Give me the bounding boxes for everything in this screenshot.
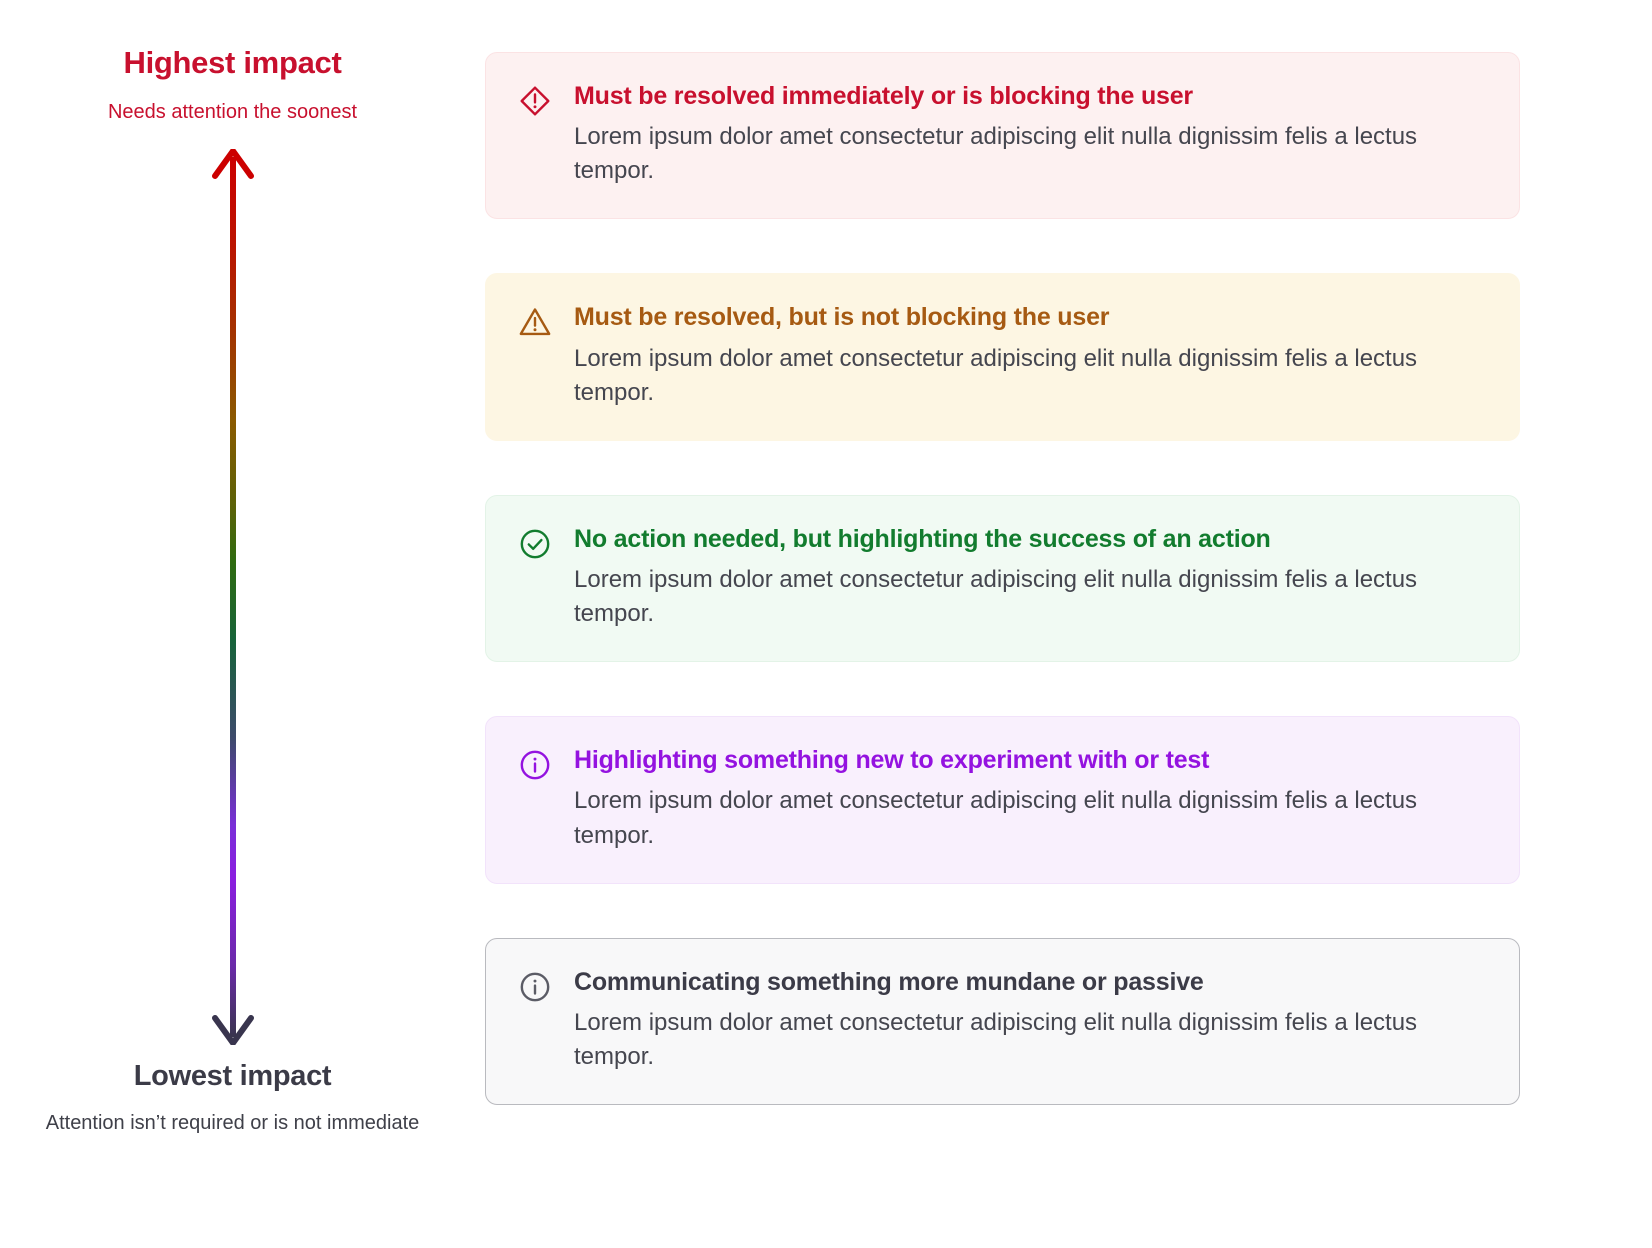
impact-scale-page: Highest impact Needs attention the soone… [0, 0, 1652, 1248]
alert-card-title: Must be resolved immediately or is block… [574, 81, 1487, 112]
alert-card-success[interactable]: No action needed, but highlighting the s… [485, 495, 1520, 662]
circle-info-icon [518, 748, 552, 782]
circle-check-icon [518, 527, 552, 561]
alert-card-title: Must be resolved, but is not blocking th… [574, 302, 1487, 333]
alert-card-body: Must be resolved, but is not blocking th… [574, 302, 1487, 409]
diamond-exclamation-icon [518, 84, 552, 118]
alert-card-description: Lorem ipsum dolor amet consectetur adipi… [574, 342, 1487, 410]
alert-card-title: Communicating something more mundane or … [574, 967, 1487, 998]
alert-card-body: No action needed, but highlighting the s… [574, 524, 1487, 631]
lowest-impact-title: Lowest impact [134, 1059, 332, 1094]
alert-card-info[interactable]: Highlighting something new to experiment… [485, 716, 1520, 883]
highest-impact-subtitle: Needs attention the soonest [108, 99, 357, 125]
alert-card-description: Lorem ipsum dolor amet consectetur adipi… [574, 120, 1487, 188]
alert-card-body: Highlighting something new to experiment… [574, 745, 1487, 852]
alert-card-title: Highlighting something new to experiment… [574, 745, 1487, 776]
alert-card-body: Must be resolved immediately or is block… [574, 81, 1487, 188]
alert-cards-column: Must be resolved immediately or is block… [485, 0, 1652, 1248]
highest-impact-title: Highest impact [123, 44, 341, 81]
impact-scale-column: Highest impact Needs attention the soone… [0, 0, 485, 1248]
alert-card-warning[interactable]: Must be resolved, but is not blocking th… [485, 273, 1520, 440]
lowest-impact-subtitle: Attention isn’t required or is not immed… [46, 1110, 420, 1136]
alert-card-title: No action needed, but highlighting the s… [574, 524, 1487, 555]
impact-gradient-arrow [203, 149, 263, 1045]
alert-card-neutral[interactable]: Communicating something more mundane or … [485, 938, 1520, 1105]
alert-card-description: Lorem ipsum dolor amet consectetur adipi… [574, 784, 1487, 852]
alert-card-description: Lorem ipsum dolor amet consectetur adipi… [574, 1006, 1487, 1074]
alert-card-critical[interactable]: Must be resolved immediately or is block… [485, 52, 1520, 219]
triangle-exclamation-icon [518, 305, 552, 339]
circle-info-icon [518, 970, 552, 1004]
arrow-up-down-gradient-svg [203, 149, 263, 1045]
alert-card-description: Lorem ipsum dolor amet consectetur adipi… [574, 563, 1487, 631]
alert-card-body: Communicating something more mundane or … [574, 967, 1487, 1074]
